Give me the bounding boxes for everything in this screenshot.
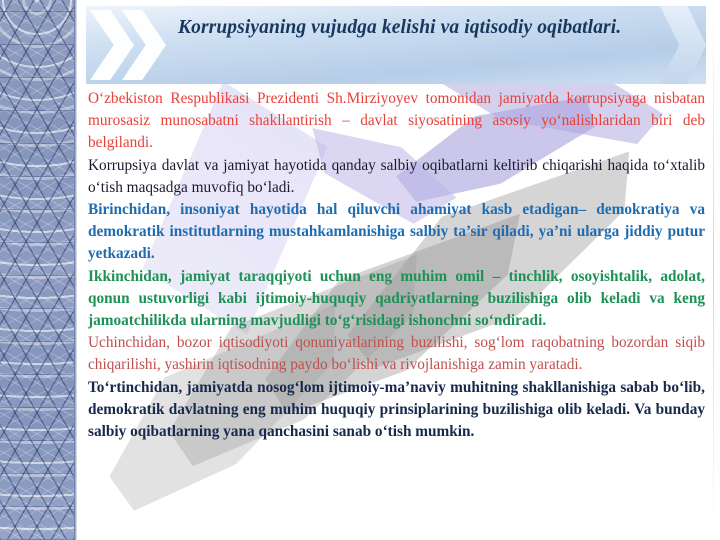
paragraph-uchinchidan: Uchinchidan, bozor iqtisodiyoti qonuniya… [88,332,705,376]
islamic-star-pattern-border [0,0,74,540]
presentation-slide: Korrupsiyaning vujudga kelishi va iqtiso… [0,0,720,540]
chevron-right-icon-1 [90,10,134,80]
slide-body: O‘zbekiston Respublikasi Prezidenti Sh.M… [88,88,705,443]
paragraph-lead-dark: Korrupsiya davlat va jamiyat hayotida qa… [88,155,705,199]
paragraph-birinchidan: Birinchidan, insoniyat hayotida hal qilu… [88,199,705,266]
slide-title: Korrupsiyaning vujudga kelishi va iqtiso… [178,14,678,42]
right-edge-rule [713,0,714,540]
paragraph-ikkinchidan: Ikkinchidan, jamiyat taraqqiyoti uchun e… [88,266,705,333]
paragraph-tortinchidan: To‘rtinchidan, jamiyatda nosog‘lom ijtim… [88,377,705,444]
title-banner: Korrupsiyaning vujudga kelishi va iqtiso… [86,6,706,84]
paragraph-intro-red: O‘zbekiston Respublikasi Prezidenti Sh.M… [88,88,705,155]
border-edge-divider [74,0,77,540]
